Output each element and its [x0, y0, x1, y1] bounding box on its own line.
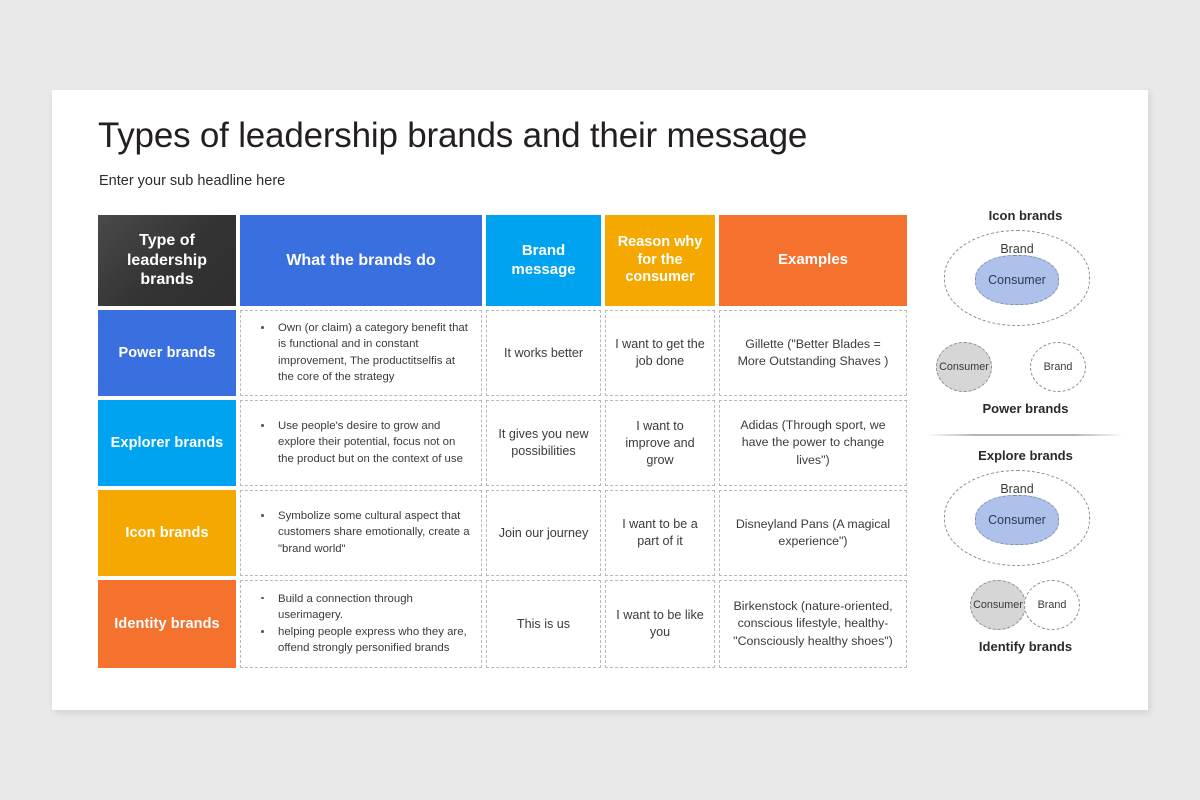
bullet-item: Build a connection through userimagery.: [252, 591, 472, 623]
header-brand-message: Brand message: [486, 215, 601, 306]
consumer-circle: Consumer: [936, 342, 992, 392]
bullet-item: Own (or claim) a category benefit that i…: [252, 320, 472, 385]
slide-canvas: Types of leadership brands and their mes…: [52, 90, 1148, 710]
cell-example: Birkenstock (nature-oriented, conscious …: [719, 580, 907, 668]
diagram-caption-power-brands: Power brands: [918, 401, 1133, 416]
cell-what-brands-do: Use people's desire to grow and explore …: [240, 400, 482, 486]
brand-outer-label: Brand: [945, 482, 1089, 496]
cell-reason-why: I want to get the job done: [605, 310, 715, 396]
header-what-the-brands-do: What the brands do: [240, 215, 482, 306]
bullet-item: helping people express who they are, off…: [252, 624, 472, 656]
brand-relationship-diagrams: Icon brands Brand Consumer Consumer Bran…: [918, 208, 1133, 678]
diagram-title-icon-brands: Icon brands: [918, 208, 1133, 223]
table-row: Identity brands Build a connection throu…: [98, 580, 899, 668]
cell-what-brands-do: Symbolize some cultural aspect that cust…: [240, 490, 482, 576]
diagram-caption-identify-brands: Identify brands: [918, 639, 1133, 654]
table-header-row: Type of leadership brands What the brand…: [98, 215, 899, 306]
row-label-icon-brands: Icon brands: [98, 490, 236, 576]
consumer-circle: Consumer: [970, 580, 1026, 630]
diagram-title-explore-brands: Explore brands: [918, 448, 1133, 463]
cell-reason-why: I want to be like you: [605, 580, 715, 668]
table-row: Explorer brands Use people's desire to g…: [98, 400, 899, 486]
consumer-inner-shape: Consumer: [975, 255, 1059, 305]
row-label-explorer-brands: Explorer brands: [98, 400, 236, 486]
brand-circle: Brand: [1030, 342, 1086, 392]
leadership-brands-table: Type of leadership brands What the brand…: [98, 215, 899, 668]
brand-circle: Brand: [1024, 580, 1080, 630]
page-title: Types of leadership brands and their mes…: [98, 116, 807, 156]
cell-what-brands-do: Build a connection through userimagery. …: [240, 580, 482, 668]
cell-reason-why: I want to be a part of it: [605, 490, 715, 576]
consumer-inner-shape: Consumer: [975, 495, 1059, 545]
brand-outer-label: Brand: [945, 242, 1089, 256]
cell-what-brands-do: Own (or claim) a category benefit that i…: [240, 310, 482, 396]
row-label-power-brands: Power brands: [98, 310, 236, 396]
cell-brand-message: This is us: [486, 580, 601, 668]
cell-brand-message: Join our journey: [486, 490, 601, 576]
row-label-identity-brands: Identity brands: [98, 580, 236, 668]
bullet-item: Use people's desire to grow and explore …: [252, 418, 472, 467]
cell-brand-message: It works better: [486, 310, 601, 396]
diagram-divider: [926, 434, 1124, 436]
page-subtitle: Enter your sub headline here: [99, 173, 285, 189]
header-type-of-leadership-brands: Type of leadership brands: [98, 215, 236, 306]
cell-reason-why: I want to improve and grow: [605, 400, 715, 486]
table-row: Power brands Own (or claim) a category b…: [98, 310, 899, 396]
diagram-group-icon-power: Icon brands Brand Consumer Consumer Bran…: [918, 208, 1133, 426]
diagram-group-explore-identify: Explore brands Brand Consumer Consumer B…: [918, 448, 1133, 676]
table-row: Icon brands Symbolize some cultural aspe…: [98, 490, 899, 576]
cell-example: Disneyland Pans (A magical experience"): [719, 490, 907, 576]
bullet-item: Symbolize some cultural aspect that cust…: [252, 508, 472, 557]
cell-example: Gillette ("Better Blades = More Outstand…: [719, 310, 907, 396]
header-examples: Examples: [719, 215, 907, 306]
cell-example: Adidas (Through sport, we have the power…: [719, 400, 907, 486]
header-reason-why-for-the-consumer: Reason why for the consumer: [605, 215, 715, 306]
cell-brand-message: It gives you new possibilities: [486, 400, 601, 486]
